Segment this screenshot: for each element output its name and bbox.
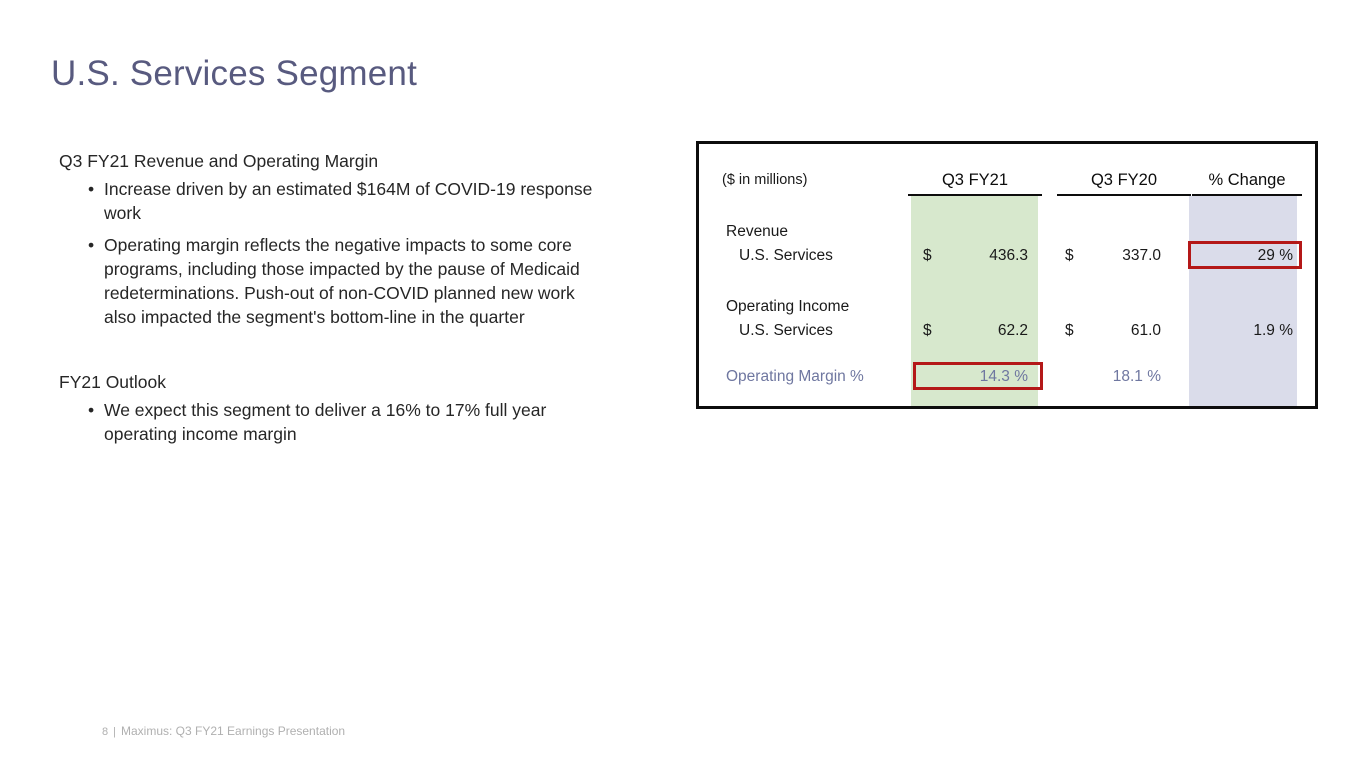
bullet-dot-icon: • [88,398,94,422]
table-row-label-revenue: Revenue [726,223,788,241]
list-item: • Increase driven by an estimated $164M … [59,177,599,225]
column-header-q3fy20: Q3 FY20 [1057,171,1191,196]
list-item: • We expect this segment to deliver a 16… [59,398,599,446]
page-number: 8 [102,726,108,738]
table-cell-revenue-q3fy21: 436.3 [923,247,1028,265]
table-units-label: ($ in millions) [722,172,807,188]
page-title: U.S. Services Segment [51,52,417,96]
list-item: • Operating margin reflects the negative… [59,233,599,329]
financial-summary-table: ($ in millions) Q3 FY21 Q3 FY20 % Change… [696,141,1318,409]
section-fy21-outlook: FY21 Outlook • We expect this segment to… [59,369,599,446]
footer-separator: | [113,726,116,738]
table-cell-operating-income-change: 1.9 % [1189,322,1293,340]
bullet-list: • We expect this segment to deliver a 16… [59,398,599,446]
table-cell-operating-income-q3fy21: 62.2 [923,322,1028,340]
table-row-label-operating-income: Operating Income [726,298,849,316]
content-column: Q3 FY21 Revenue and Operating Margin • I… [59,148,599,446]
section-heading: FY21 Outlook [59,369,599,395]
list-item-text: Increase driven by an estimated $164M of… [104,179,592,223]
callout-box-operating-margin [913,362,1043,390]
callout-box-revenue-change [1188,241,1302,269]
footer: 8 | Maximus: Q3 FY21 Earnings Presentati… [102,724,345,738]
bullet-dot-icon: • [88,233,94,257]
column-header-q3fy21: Q3 FY21 [908,171,1042,196]
section-revenue-margin: Q3 FY21 Revenue and Operating Margin • I… [59,148,599,329]
table-cell-operating-margin-q3fy20: 18.1 % [1065,368,1161,386]
table-cell-revenue-q3fy20: 337.0 [1065,247,1161,265]
list-item-text: Operating margin reflects the negative i… [104,235,580,327]
column-header-change: % Change [1192,171,1302,196]
table-row-label-operating-income-us-services: U.S. Services [739,322,833,340]
bullet-dot-icon: • [88,177,94,201]
bullet-list: • Increase driven by an estimated $164M … [59,177,599,329]
table-cell-operating-income-q3fy20: 61.0 [1065,322,1161,340]
footer-text: Maximus: Q3 FY21 Earnings Presentation [121,724,345,738]
table-row-label-revenue-us-services: U.S. Services [739,247,833,265]
section-heading: Q3 FY21 Revenue and Operating Margin [59,148,599,174]
list-item-text: We expect this segment to deliver a 16% … [104,400,546,444]
table-row-label-operating-margin: Operating Margin % [726,368,864,386]
